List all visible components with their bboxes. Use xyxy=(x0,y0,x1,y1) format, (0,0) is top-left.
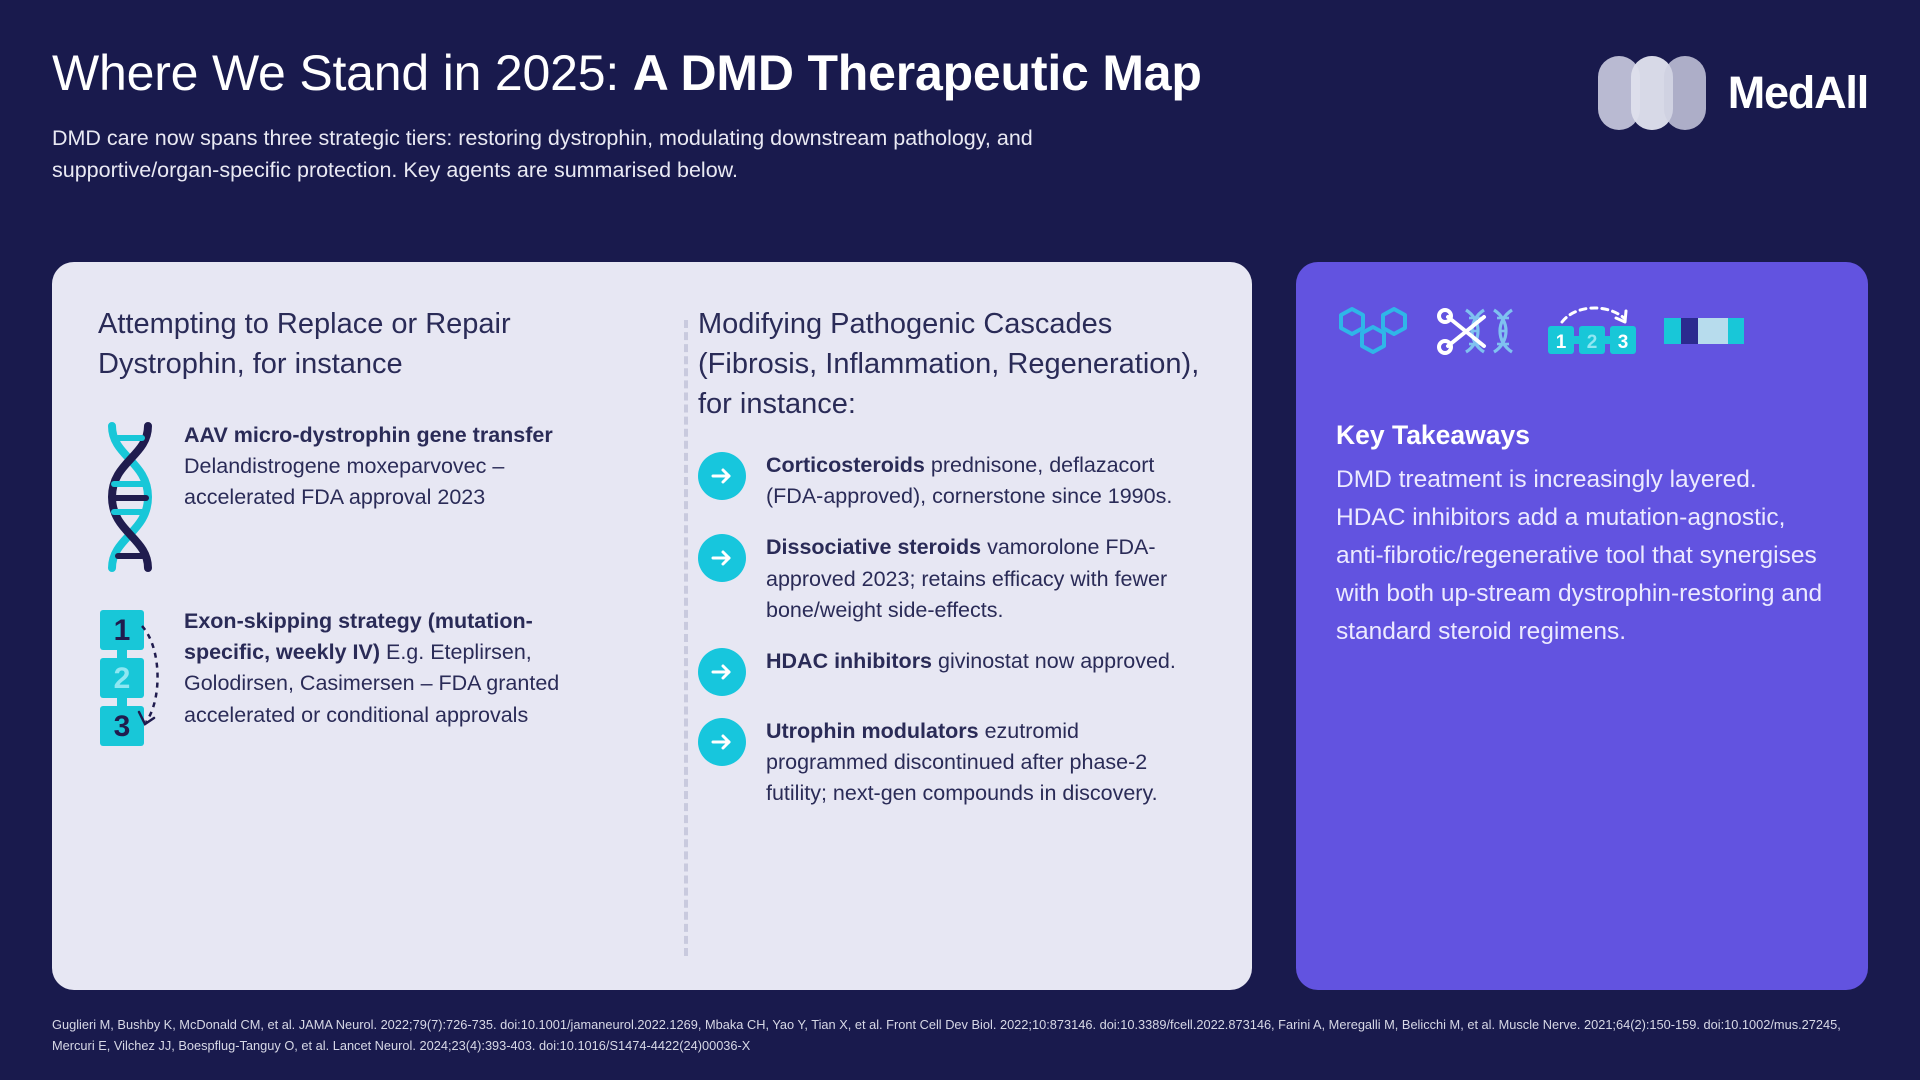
arrow-right-icon xyxy=(698,718,746,766)
svg-text:1: 1 xyxy=(114,614,131,647)
list-item: Utrophin modulators ezutromid programmed… xyxy=(698,716,1206,810)
svg-text:2: 2 xyxy=(1587,332,1598,353)
takeaway-icon-row: 1 2 3 xyxy=(1336,304,1828,362)
column-divider xyxy=(684,320,688,956)
scissors-dna-icon xyxy=(1436,304,1520,363)
list-item: Dissociative steroids vamorolone FDA-app… xyxy=(698,532,1206,626)
medall-logo-text: MedAll xyxy=(1728,67,1868,119)
list-item-bold: HDAC inhibitors xyxy=(766,649,932,673)
exon-sequence-icon: 1 2 3 xyxy=(1546,302,1638,365)
page-title: Where We Stand in 2025: A DMD Therapeuti… xyxy=(52,46,1868,101)
content-cards: Attempting to Replace or Repair Dystroph… xyxy=(52,262,1868,990)
arrow-right-icon xyxy=(698,534,746,582)
list-item-bold: Dissociative steroids xyxy=(766,535,981,559)
list-item-rest: Delandistrogene moxeparvovec – accelerat… xyxy=(184,454,504,509)
column-heading: Modifying Pathogenic Cascades (Fibrosis,… xyxy=(698,304,1206,424)
list-item: 1 2 3 Exon-skipping strategy (mutation-s… xyxy=(98,606,612,748)
list-item-bold: AAV micro-dystrophin gene transfer xyxy=(184,423,553,447)
list-item-bold: Utrophin modulators xyxy=(766,719,979,743)
page-title-bold: A DMD Therapeutic Map xyxy=(633,45,1202,101)
arrow-right-icon xyxy=(698,452,746,500)
list-item: HDAC inhibitors givinostat now approved. xyxy=(698,646,1206,696)
list-item-text: Corticosteroids prednisone, deflazacort … xyxy=(766,450,1206,512)
exon-skipping-icon: 1 2 3 xyxy=(98,606,162,748)
list-item-text: Dissociative steroids vamorolone FDA-app… xyxy=(766,532,1206,626)
medall-logo-mark-icon xyxy=(1598,54,1706,132)
key-takeaways-body: DMD treatment is increasingly layered. H… xyxy=(1336,461,1828,651)
list-item: Corticosteroids prednisone, deflazacort … xyxy=(698,450,1206,512)
column-replace-repair: Attempting to Replace or Repair Dystroph… xyxy=(98,304,652,960)
key-takeaways-card: 1 2 3 Key Takeaways xyxy=(1296,262,1868,990)
column-pathogenic-cascades: Modifying Pathogenic Cascades (Fibrosis,… xyxy=(652,304,1206,960)
list-item-text: Utrophin modulators ezutromid programmed… xyxy=(766,716,1206,810)
svg-text:3: 3 xyxy=(114,710,131,743)
segment-bar-icon xyxy=(1664,318,1744,349)
svg-text:3: 3 xyxy=(1618,332,1629,353)
list-item-rest: givinostat now approved. xyxy=(932,649,1176,673)
page-subtitle: DMD care now spans three strategic tiers… xyxy=(52,123,1192,187)
citations-footer: Guglieri M, Bushby K, McDonald CM, et al… xyxy=(52,1014,1868,1056)
header: Where We Stand in 2025: A DMD Therapeuti… xyxy=(52,46,1868,166)
list-item: AAV micro-dystrophin gene transfer Delan… xyxy=(98,420,612,572)
svg-text:1: 1 xyxy=(1556,332,1567,353)
svg-text:2: 2 xyxy=(114,662,131,695)
list-item-text: Exon-skipping strategy (mutation-specifi… xyxy=(184,606,612,731)
list-item-text: HDAC inhibitors givinostat now approved. xyxy=(766,646,1176,677)
medall-logo: MedAll xyxy=(1598,54,1868,132)
list-item-text: AAV micro-dystrophin gene transfer Delan… xyxy=(184,420,612,514)
arrow-right-icon xyxy=(698,648,746,696)
infographic-page: Where We Stand in 2025: A DMD Therapeuti… xyxy=(0,0,1920,1080)
key-takeaways-title: Key Takeaways xyxy=(1336,420,1828,451)
list-item-bold: Corticosteroids xyxy=(766,453,925,477)
column-heading: Attempting to Replace or Repair Dystroph… xyxy=(98,304,612,384)
therapies-card: Attempting to Replace or Repair Dystroph… xyxy=(52,262,1252,990)
dna-helix-icon xyxy=(98,420,162,572)
hexagon-molecule-icon xyxy=(1336,303,1410,364)
page-title-light: Where We Stand in 2025: xyxy=(52,45,633,101)
